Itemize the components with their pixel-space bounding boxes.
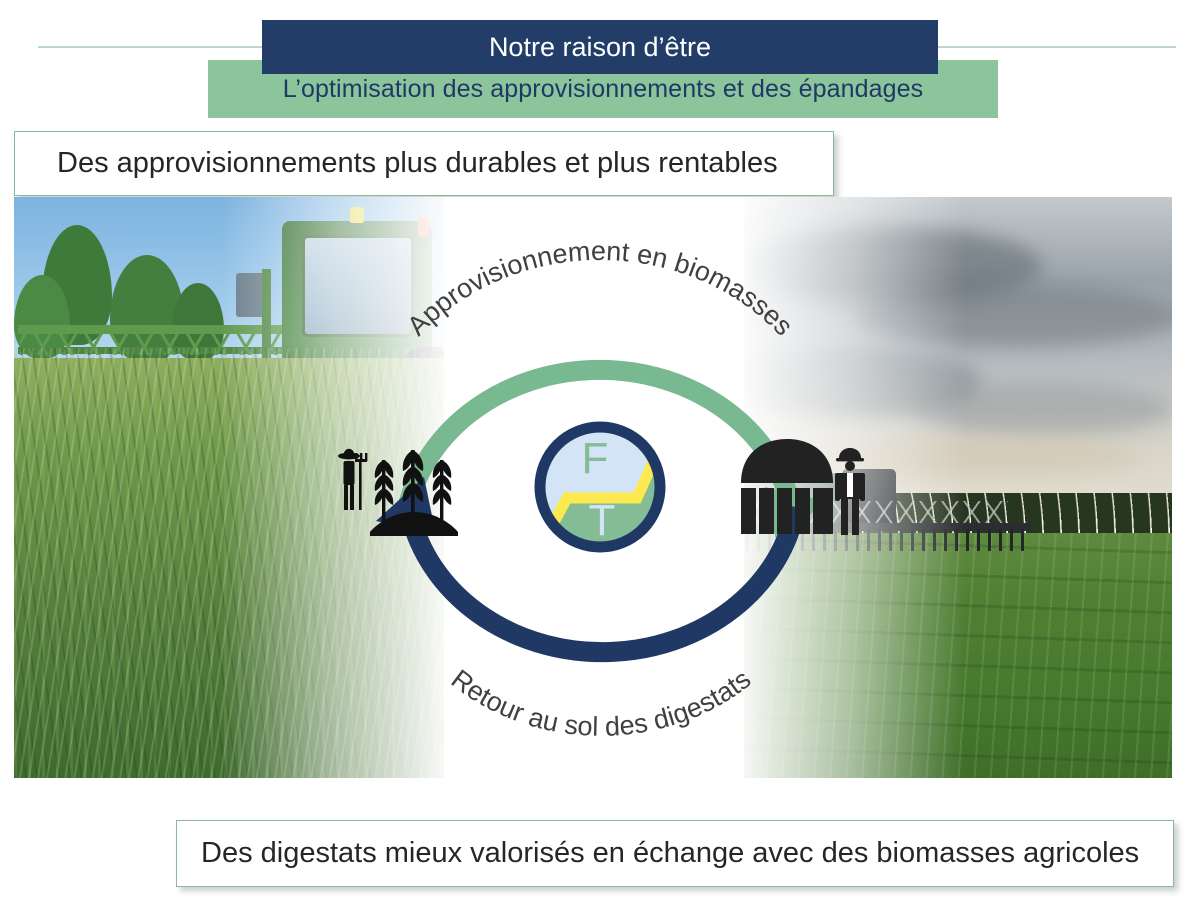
- crop-stalk-icon: [433, 460, 451, 522]
- callout-bottom-text: Des digestats mieux valorisés en échange…: [177, 837, 1139, 870]
- digester-dome-icon: [741, 439, 833, 483]
- pitchfork-handle-icon: [359, 460, 362, 510]
- arc-bottom-label: Retour au sol des digestats: [446, 664, 757, 742]
- crop-stalk-icon: [375, 460, 393, 522]
- hard-hat-icon: [839, 448, 861, 458]
- logo-letter-t: T: [589, 496, 616, 545]
- slide-root: L’optimisation des approvisionnements et…: [0, 0, 1200, 900]
- worker-icon: [835, 448, 865, 535]
- company-logo: F T: [526, 420, 676, 575]
- callout-top: Des approvisionnements plus durables et …: [14, 131, 834, 196]
- biogas-digester-and-worker-icon: [735, 435, 875, 547]
- callout-bottom: Des digestats mieux valorisés en échange…: [176, 820, 1174, 887]
- logo-letter-f: F: [582, 434, 609, 483]
- callout-top-text: Des approvisionnements plus durables et …: [15, 147, 778, 180]
- farmer-and-crops-icon: [330, 440, 460, 545]
- arc-top-label: Approvisionnement en biomasses: [401, 236, 798, 341]
- page-title: Notre raison d’être: [262, 20, 938, 74]
